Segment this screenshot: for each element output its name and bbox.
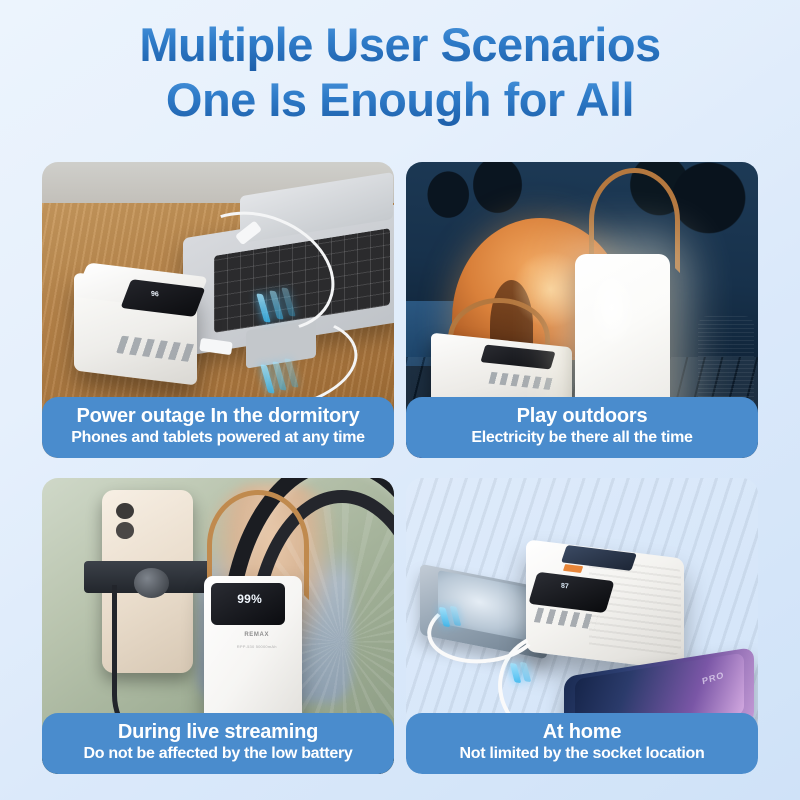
scenario-card-dormitory[interactable]: 96 Power outage In the dormitory Phones …	[42, 162, 394, 458]
marketing-banner: Multiple User Scenarios One Is Enough fo…	[0, 0, 800, 800]
phone-camera-lens-icon	[116, 503, 134, 519]
caption-subtitle: Electricity be there all the time	[406, 428, 758, 448]
brand-label: REMAX	[232, 632, 281, 638]
scenario-card-at-home[interactable]: 87 PRO At home Not limited by the socket…	[406, 478, 758, 774]
caption-subtitle: Not limited by the socket location	[406, 744, 758, 764]
scenario-photo-outdoors: Play outdoors Electricity be there all t…	[406, 162, 758, 458]
caption-subtitle: Phones and tablets powered at any time	[42, 428, 394, 448]
power-bank-display-value: 87	[561, 583, 569, 591]
battery-percentage-value: 99%	[229, 592, 271, 606]
model-label: RPP-530 50000mAh	[229, 644, 285, 649]
scenario-photo-at-home: 87 PRO At home Not limited by the socket…	[406, 478, 758, 774]
caption-bar-dormitory: Power outage In the dormitory Phones and…	[42, 397, 394, 458]
scenario-photo-live-streaming: 99% REMAX RPP-530 50000mAh During live s…	[42, 478, 394, 774]
scenario-grid: 96 Power outage In the dormitory Phones …	[42, 162, 758, 780]
page-title: Multiple User Scenarios One Is Enough fo…	[0, 18, 800, 126]
caption-bar-at-home: At home Not limited by the socket locati…	[406, 713, 758, 774]
caption-title: Play outdoors	[406, 404, 758, 428]
scenario-card-live-streaming[interactable]: 99% REMAX RPP-530 50000mAh During live s…	[42, 478, 394, 774]
caption-title: During live streaming	[42, 720, 394, 744]
scenario-card-outdoors[interactable]: Play outdoors Electricity be there all t…	[406, 162, 758, 458]
power-bank-display-value: 96	[151, 290, 159, 298]
caption-title: Power outage In the dormitory	[42, 404, 394, 428]
caption-title: At home	[406, 720, 758, 744]
caption-subtitle: Do not be affected by the low battery	[42, 744, 394, 764]
phone-camera-lens-icon	[116, 522, 134, 538]
caption-bar-live-streaming: During live streaming Do not be affected…	[42, 713, 394, 774]
title-line-2: One Is Enough for All	[0, 73, 800, 126]
caption-bar-outdoors: Play outdoors Electricity be there all t…	[406, 397, 758, 458]
title-line-1: Multiple User Scenarios	[0, 18, 800, 71]
lantern-light-highlight	[589, 269, 635, 346]
scenario-photo-dormitory: 96 Power outage In the dormitory Phones …	[42, 162, 394, 458]
